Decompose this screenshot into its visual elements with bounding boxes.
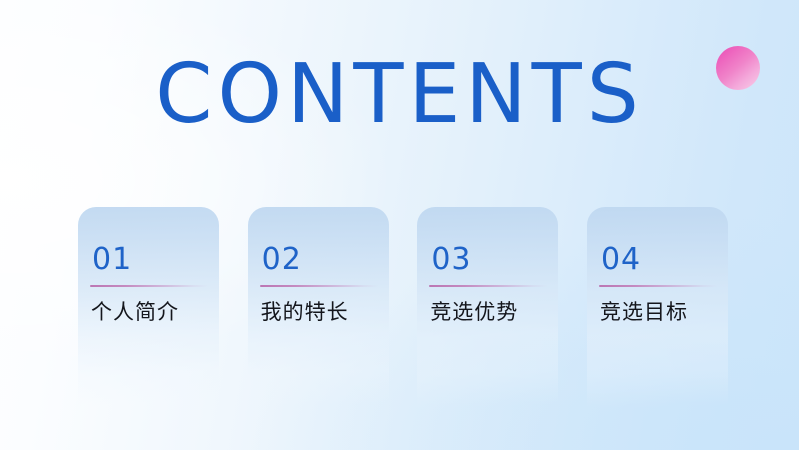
card-number: 01 xyxy=(90,243,207,277)
contents-card-01[interactable]: 01 个人简介 xyxy=(78,207,219,407)
slide-canvas: CONTENTS 01 个人简介 02 我的特长 03 竞选优势 04 竞选目标 xyxy=(0,0,799,450)
card-divider xyxy=(429,285,547,287)
contents-card-03[interactable]: 03 竞选优势 xyxy=(417,207,558,407)
contents-card-row: 01 个人简介 02 我的特长 03 竞选优势 04 竞选目标 xyxy=(78,207,728,407)
card-divider xyxy=(599,285,717,287)
contents-card-02[interactable]: 02 我的特长 xyxy=(248,207,389,407)
card-label: 我的特长 xyxy=(260,299,377,325)
card-number: 03 xyxy=(429,243,546,277)
card-label: 个人简介 xyxy=(90,299,207,325)
card-divider xyxy=(90,285,208,287)
card-label: 竞选目标 xyxy=(599,299,716,325)
card-label: 竞选优势 xyxy=(429,299,546,325)
contents-card-04[interactable]: 04 竞选目标 xyxy=(587,207,728,407)
card-number: 04 xyxy=(599,243,716,277)
card-number: 02 xyxy=(260,243,377,277)
card-divider xyxy=(260,285,378,287)
page-title: CONTENTS xyxy=(0,52,799,138)
